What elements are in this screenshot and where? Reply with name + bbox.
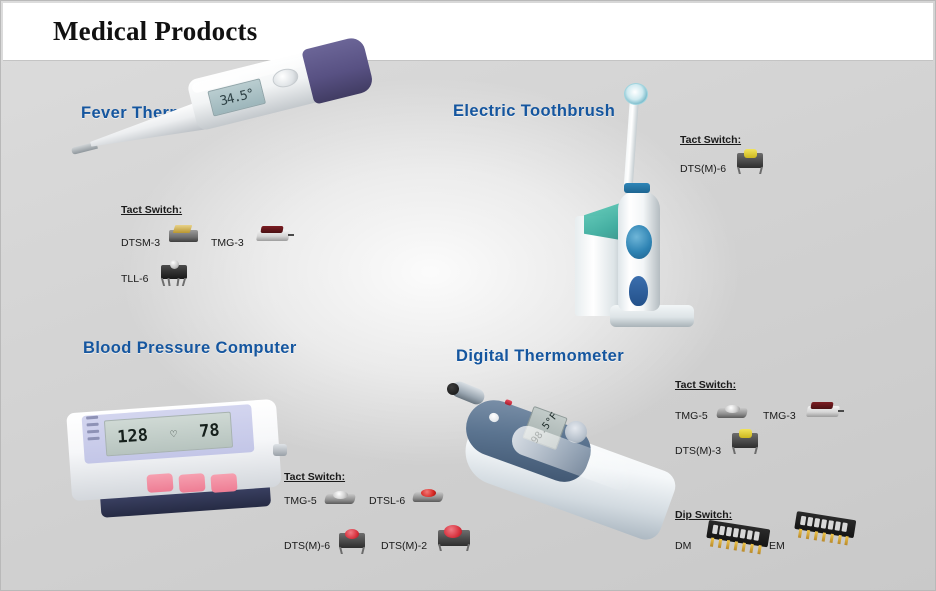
component-tmg-5-bpm <box>325 490 355 506</box>
thermometer-shaft <box>87 100 211 158</box>
component-dtsl-6 <box>413 488 443 504</box>
toothbrush-logo <box>629 276 648 306</box>
header-bar: Medical Prodocts <box>3 3 933 61</box>
bpm-diastolic-value: 78 <box>199 420 221 441</box>
component-dts-m-2 <box>436 526 472 552</box>
part-label-tmg-3-fever: TMG-3 <box>211 237 244 249</box>
bpm-button-set <box>178 473 205 493</box>
component-dtsm-3 <box>169 225 199 243</box>
part-label-dts-m-2: DTS(M)-2 <box>381 540 427 552</box>
digital-ear-thermometer-image: 98.5°F <box>449 373 689 518</box>
component-dts-m-6-toothbrush <box>735 149 765 173</box>
page-title: Medical Prodocts <box>53 16 257 47</box>
toothbrush-collar <box>624 183 650 193</box>
component-dts-m-6-bpm <box>337 529 367 553</box>
part-label-dm: DM <box>675 540 691 552</box>
toothbrush-power-button <box>626 225 652 259</box>
part-label-dts-m-6-bpm: DTS(M)-6 <box>284 540 330 552</box>
component-dip-switch-em <box>794 516 860 550</box>
component-dts-m-3 <box>730 429 760 453</box>
part-label-tll-6: TLL-6 <box>121 273 148 285</box>
group-caption-digital-dip-switch: Dip Switch: <box>675 509 732 521</box>
component-tmg-5-digital <box>717 404 747 420</box>
heart-icon: ♡ <box>170 427 178 440</box>
part-label-dtsm-6-toothbrush: DTS(M)-6 <box>680 163 726 175</box>
ear-thermometer-probe-tip <box>447 383 459 395</box>
group-caption-toothbrush-tact-switch: Tact Switch: <box>680 134 741 146</box>
part-label-dts-m-3: DTS(M)-3 <box>675 445 721 457</box>
part-label-dtsl-6: DTSL-6 <box>369 495 405 507</box>
blood-pressure-monitor-image: 128 ♡ 78 <box>61 396 311 526</box>
bpm-button-memory <box>146 473 173 493</box>
bpm-air-port <box>273 444 287 456</box>
part-label-em: EM <box>769 540 785 552</box>
component-dip-switch-dm <box>706 525 774 559</box>
bpm-indicator-rows <box>86 416 102 445</box>
section-title-digital-thermometer: Digital Thermometer <box>456 347 624 366</box>
toothbrush-neck <box>623 97 639 192</box>
group-caption-bpm-tact-switch: Tact Switch: <box>284 471 345 483</box>
group-caption-digital-tact-switch: Tact Switch: <box>675 379 736 391</box>
electric-toothbrush-image <box>576 83 706 338</box>
bpm-button-power <box>210 473 237 493</box>
toothbrush-brush-head <box>624 83 648 105</box>
part-label-tmg-5-digital: TMG-5 <box>675 410 708 422</box>
bpm-systolic-value: 128 <box>117 425 149 447</box>
thermometer-cap <box>301 35 375 104</box>
component-tmg-3-digital <box>807 401 841 419</box>
group-caption-fever-tact-switch: Tact Switch: <box>121 204 182 216</box>
part-label-tmg-3-digital: TMG-3 <box>763 410 796 422</box>
poster-page: Medical Prodocts Fever Thermometer 34.5°… <box>0 0 936 591</box>
part-label-dtsm-3: DTSM-3 <box>121 237 160 249</box>
section-title-blood-pressure-computer: Blood Pressure Computer <box>83 339 297 358</box>
part-label-tmg-5-bpm: TMG-5 <box>284 495 317 507</box>
component-tmg-3-fever <box>257 225 291 243</box>
component-tll-6 <box>160 259 188 287</box>
